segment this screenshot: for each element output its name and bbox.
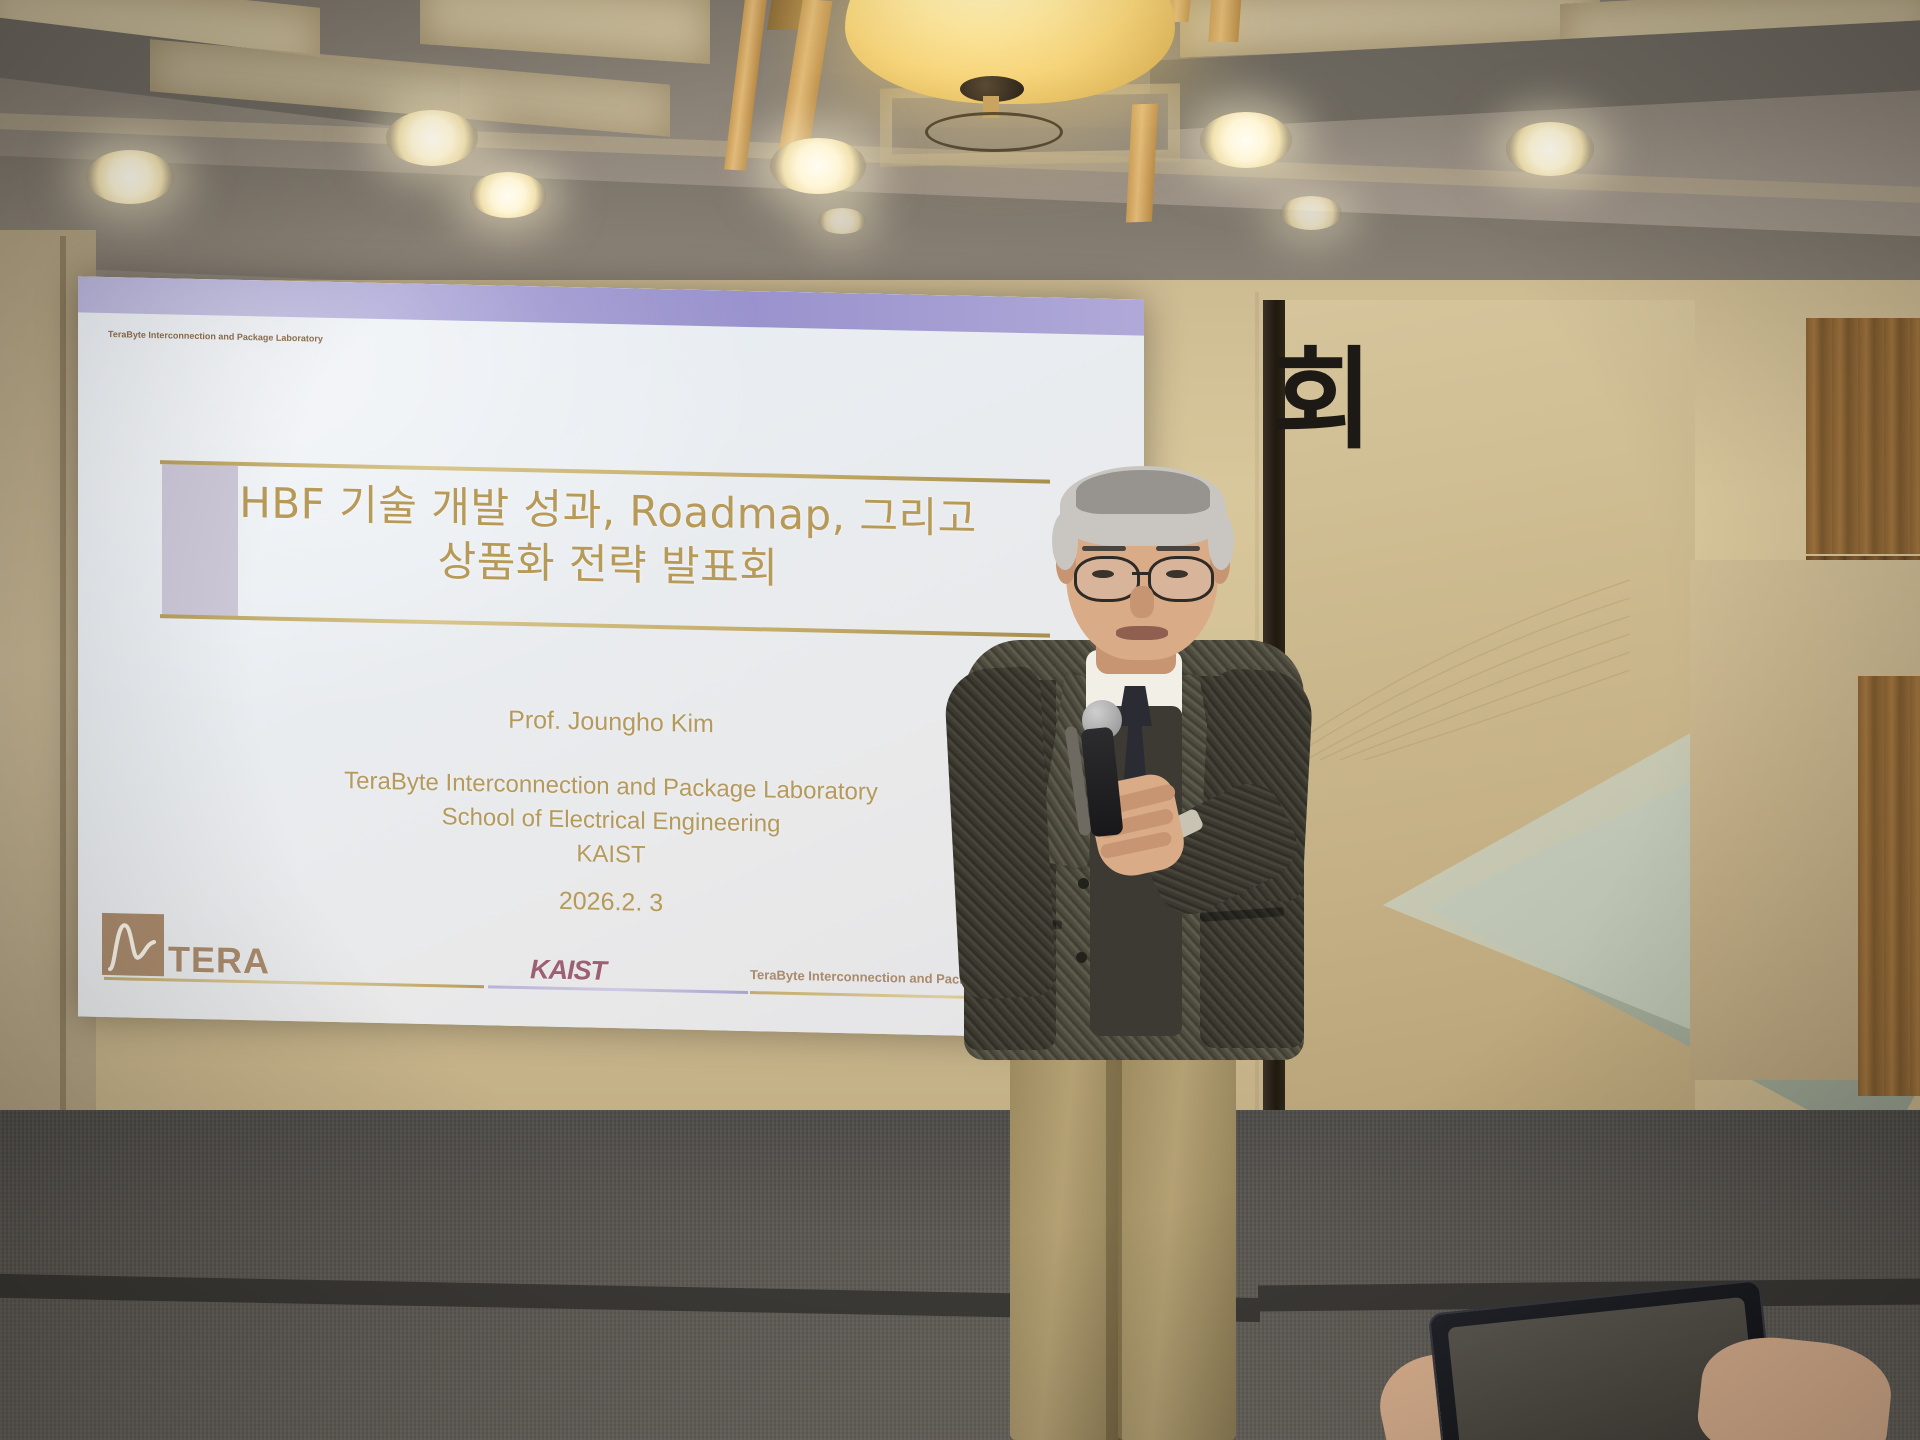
tera-logo-sub: TeraByte Interconnection and Package Lab… xyxy=(108,329,323,344)
tera-logo-mark xyxy=(102,913,164,976)
eye-right xyxy=(1166,570,1188,578)
trouser-crease xyxy=(1106,1040,1122,1440)
wood-fin xyxy=(1208,0,1241,42)
wood-wall-panel xyxy=(1806,318,1920,554)
nose xyxy=(1130,586,1154,618)
banner-korean-char: 회 xyxy=(1272,345,1373,455)
downlight xyxy=(1200,112,1292,168)
downlight xyxy=(386,110,478,166)
downlight xyxy=(770,138,866,194)
hair-side-right xyxy=(1208,512,1234,570)
pendant-ring xyxy=(925,112,1063,152)
kaist-logo-word: KAIST xyxy=(530,954,606,987)
downlight xyxy=(1280,196,1342,230)
tera-waveform-icon xyxy=(102,913,164,976)
wood-column xyxy=(1858,676,1920,1096)
hair-top xyxy=(1076,470,1210,514)
eyebrow-left xyxy=(1082,546,1126,551)
hair-side-left xyxy=(1052,512,1078,570)
eyeglasses-right-lens xyxy=(1148,556,1214,602)
eyeglasses-bridge xyxy=(1132,572,1150,575)
eyebrow-right xyxy=(1156,546,1200,551)
tera-logo-word: TERA xyxy=(168,942,270,978)
mouth xyxy=(1116,626,1168,640)
presenter-person xyxy=(900,500,1380,1440)
downlight xyxy=(86,150,174,204)
downlight xyxy=(818,208,866,234)
eye-left xyxy=(1092,570,1114,578)
trouser-right xyxy=(1118,1016,1236,1440)
downlight xyxy=(1506,122,1594,176)
tera-logo: TERA xyxy=(102,913,270,979)
arm-left xyxy=(943,666,1056,1001)
footer-rule-left xyxy=(104,977,484,988)
blazer-button xyxy=(1078,878,1089,889)
photo-scene: 회 HBF 기술 개발 xyxy=(0,0,1920,1440)
footer-rule-mid xyxy=(488,985,748,994)
blazer-button xyxy=(1076,952,1087,963)
downlight xyxy=(470,172,546,218)
